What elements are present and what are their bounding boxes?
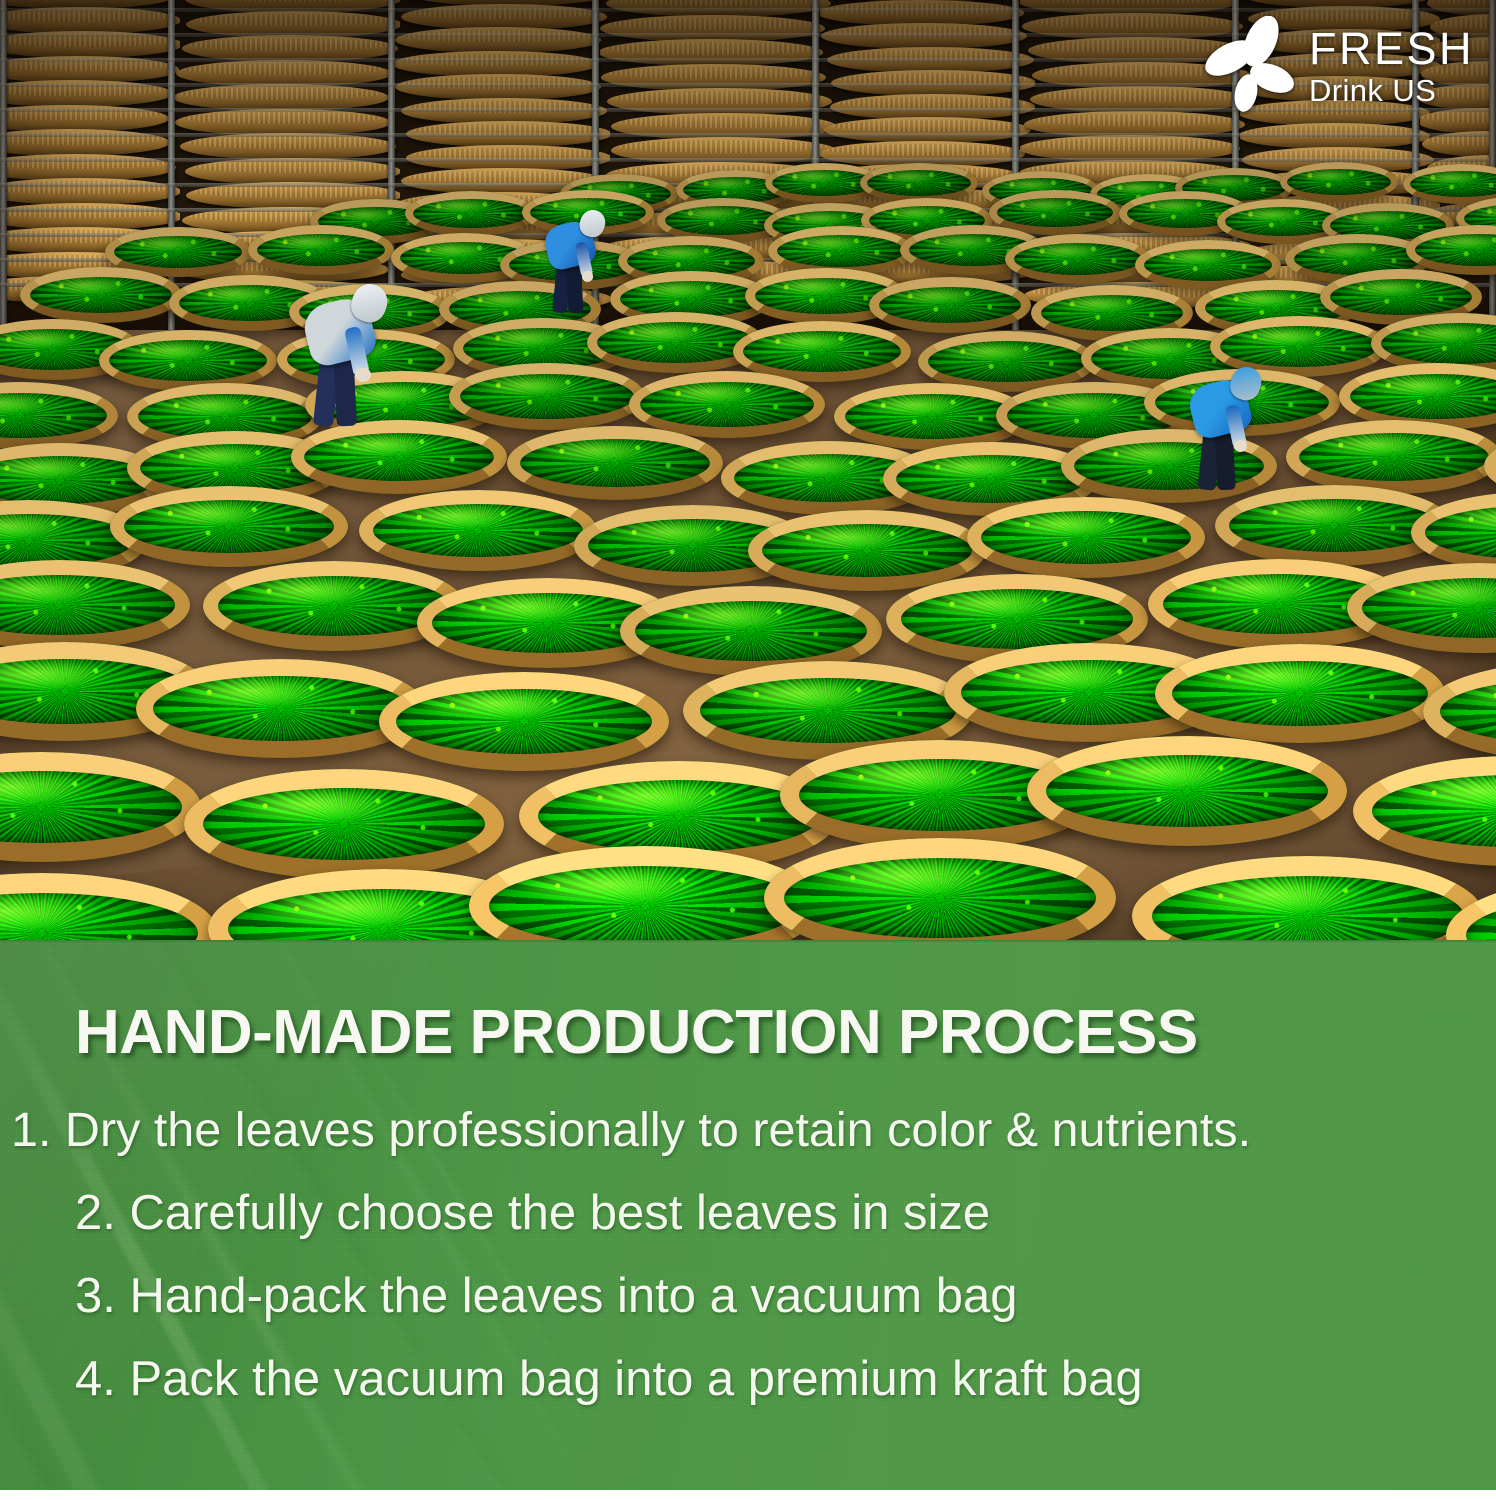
brand-wordmark: FRESH Drink US xyxy=(1309,26,1474,106)
tray-rim xyxy=(20,267,182,323)
worker-back-center xyxy=(542,206,616,332)
tray-rim xyxy=(110,486,348,567)
brand-name-line2: Drink US xyxy=(1309,75,1474,106)
rack-rail xyxy=(592,8,812,12)
worker-front-left xyxy=(300,278,402,452)
production-photo: FRESH Drink US xyxy=(0,0,1496,940)
bamboo-drying-tray xyxy=(507,426,723,500)
stacked-drying-tray xyxy=(180,133,396,160)
process-step-2: 2. Carefully choose the best leaves in s… xyxy=(75,1189,1466,1238)
rack-rail xyxy=(0,183,168,187)
tray-rim xyxy=(449,363,645,430)
bamboo-drying-tray xyxy=(1027,736,1347,846)
rack-rail xyxy=(388,33,592,37)
tray-rim xyxy=(1286,420,1496,494)
tray-rim xyxy=(405,191,537,236)
rack-post xyxy=(1489,0,1496,330)
tray-rim xyxy=(507,426,723,500)
rack-rail xyxy=(0,108,168,112)
rack-rail xyxy=(812,8,1012,12)
rack-rail xyxy=(0,158,168,162)
rack-post xyxy=(0,0,7,330)
brand-logo[interactable]: FRESH Drink US xyxy=(1199,16,1474,116)
process-step-3: 3. Hand-pack the leaves into a vacuum ba… xyxy=(75,1272,1466,1321)
rack-rail xyxy=(0,133,168,137)
rack-rail xyxy=(168,58,388,62)
rack-rail xyxy=(592,33,812,37)
tray-rim xyxy=(359,490,597,571)
rack-rail xyxy=(0,8,168,12)
bamboo-drying-tray xyxy=(449,363,645,430)
rack-rail xyxy=(812,158,1012,162)
bamboo-drying-tray xyxy=(629,371,825,438)
bamboo-drying-tray xyxy=(869,277,1031,333)
rack-rail xyxy=(592,108,812,112)
tray-rim xyxy=(869,277,1031,333)
rack-rail xyxy=(812,108,1012,112)
bamboo-drying-tray xyxy=(1155,644,1445,743)
bamboo-drying-tray xyxy=(99,330,277,391)
bamboo-drying-tray xyxy=(748,510,986,591)
rack-rail xyxy=(388,133,592,137)
stacked-drying-tray xyxy=(820,0,1024,26)
rack-rail xyxy=(812,83,1012,87)
stacked-drying-tray xyxy=(824,117,1030,143)
rack-post xyxy=(1012,0,1019,330)
bamboo-drying-tray xyxy=(20,267,182,323)
process-step-1: 1. Dry the leaves professionally to reta… xyxy=(11,1106,1466,1155)
tray-rim xyxy=(748,510,986,591)
bamboo-drying-tray xyxy=(967,497,1205,578)
worker-hand xyxy=(355,368,371,383)
tray-rim xyxy=(99,330,277,391)
rack-rail xyxy=(0,208,168,212)
rack-rail xyxy=(168,8,388,12)
four-leaf-flower-icon xyxy=(1199,16,1295,116)
stacked-drying-tray xyxy=(395,27,601,53)
rack-rail xyxy=(388,158,592,162)
stacked-drying-tray xyxy=(395,74,601,100)
tray-rim xyxy=(379,672,669,771)
tray-rim xyxy=(1155,644,1445,743)
bamboo-drying-tray xyxy=(359,490,597,571)
process-panel: HAND-MADE PRODUCTION PROCESS 1. Dry the … xyxy=(0,940,1496,1500)
stacked-drying-tray xyxy=(175,84,389,111)
rack-rail xyxy=(592,158,812,162)
rack-rail xyxy=(1412,133,1489,137)
bamboo-drying-tray xyxy=(1286,420,1496,494)
bamboo-drying-tray xyxy=(248,225,394,275)
rack-rail xyxy=(168,83,388,87)
rack-rail xyxy=(1412,158,1489,162)
bamboo-drying-tray xyxy=(184,769,504,879)
bamboo-drying-tray xyxy=(405,191,537,236)
rack-rail xyxy=(388,8,592,12)
worker-hand xyxy=(582,271,594,282)
bamboo-drying-tray xyxy=(110,486,348,567)
rack-rail xyxy=(168,33,388,37)
rack-rail xyxy=(168,108,388,112)
process-steps-list: 1. Dry the leaves professionally to reta… xyxy=(75,1106,1466,1404)
bamboo-drying-tray xyxy=(1280,162,1398,202)
bottom-white-strip xyxy=(0,1490,1496,1500)
rack-rail xyxy=(1232,8,1412,12)
rack-rail xyxy=(1232,158,1412,162)
rack-rail xyxy=(1232,133,1412,137)
rack-rail xyxy=(388,108,592,112)
rack-rail xyxy=(1412,8,1489,12)
rack-rail xyxy=(388,83,592,87)
rack-rail xyxy=(168,183,388,187)
rack-rail xyxy=(592,83,812,87)
tray-rim xyxy=(967,497,1205,578)
tray-rim xyxy=(1280,162,1398,202)
rack-rail xyxy=(388,183,592,187)
tray-rim xyxy=(1027,736,1347,846)
rack-rail xyxy=(812,33,1012,37)
stacked-drying-tray xyxy=(830,94,1035,120)
rack-rail xyxy=(168,133,388,137)
tray-rim xyxy=(629,371,825,438)
infographic-card: FRESH Drink US HAND-MADE PRODUCTION PROC… xyxy=(0,0,1496,1500)
brand-name-line1: FRESH xyxy=(1309,26,1474,71)
stacked-drying-tray xyxy=(0,203,180,230)
rack-rail xyxy=(0,58,168,62)
process-step-4: 4. Pack the vacuum bag into a premium kr… xyxy=(75,1355,1466,1404)
rack-rail xyxy=(1012,133,1232,137)
rack-rail xyxy=(0,33,168,37)
rack-rail xyxy=(1012,158,1232,162)
rack-rail xyxy=(812,58,1012,62)
rack-rail xyxy=(592,133,812,137)
rack-rail xyxy=(812,133,1012,137)
tray-rim xyxy=(248,225,394,275)
rack-rail xyxy=(0,83,168,87)
rack-rail xyxy=(1012,8,1232,12)
bamboo-drying-tray xyxy=(379,672,669,771)
stacked-drying-tray xyxy=(600,15,825,42)
tray-rim xyxy=(184,769,504,879)
rack-rail xyxy=(592,58,812,62)
worker-hand xyxy=(1234,440,1248,453)
stacked-drying-tray xyxy=(395,51,599,77)
page-title: HAND-MADE PRODUCTION PROCESS xyxy=(75,1002,1466,1064)
stacked-drying-tray xyxy=(175,109,391,136)
rack-rail xyxy=(168,158,388,162)
worker-right xyxy=(1186,362,1274,512)
rack-rail xyxy=(388,58,592,62)
